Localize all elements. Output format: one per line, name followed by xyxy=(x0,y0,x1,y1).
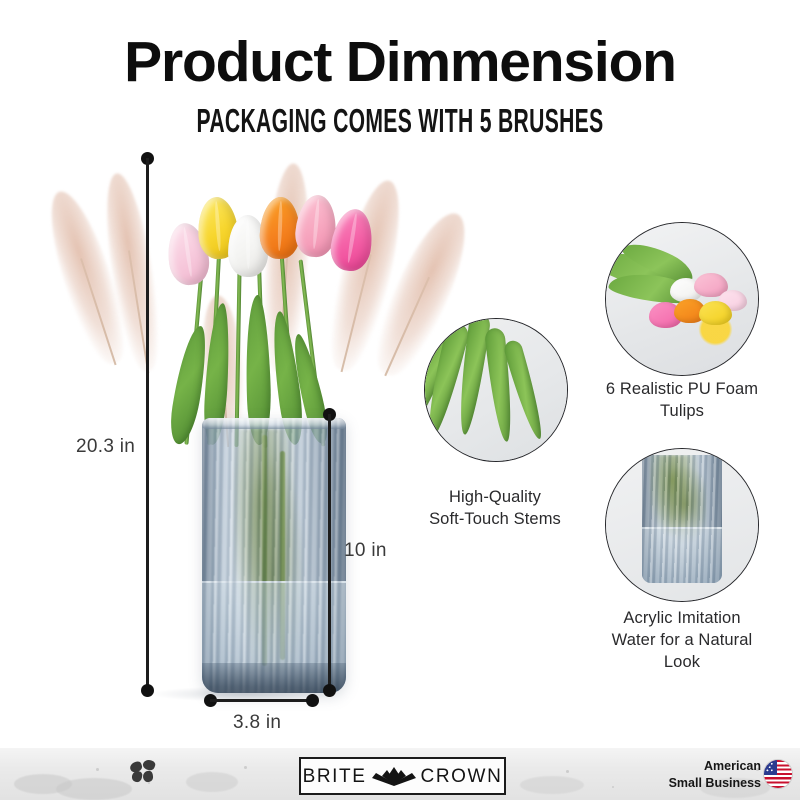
texture-splatter xyxy=(520,776,584,794)
butterfly-icon xyxy=(130,760,156,784)
us-flag-icon xyxy=(764,760,792,788)
infographic-canvas: Product Dimmension PACKAGING COMES WITH … xyxy=(0,0,800,800)
height-dim-dot-bottom xyxy=(141,684,154,697)
american-small-business-badge: American Small Business xyxy=(663,757,795,793)
callout-stems-image xyxy=(424,318,568,462)
crown-icon xyxy=(370,765,418,787)
texture-fleck xyxy=(612,786,614,788)
product-photo xyxy=(150,175,420,695)
height-dim-line xyxy=(146,158,149,690)
brand-logo: BRITE CROWN xyxy=(299,757,506,795)
callout-tulips-image xyxy=(605,222,759,376)
glass-vase xyxy=(202,418,346,693)
vase-height-dim-line xyxy=(328,414,331,690)
width-dim-line xyxy=(210,699,310,702)
vase-height-dim-label: 10 in xyxy=(344,540,387,562)
texture-splatter xyxy=(186,772,238,792)
callout-tulips-caption: 6 Realistic PU Foam Tulips xyxy=(576,379,788,423)
texture-fleck xyxy=(244,766,247,769)
width-dim-dot-right xyxy=(306,694,319,707)
photo-vase-texture xyxy=(642,455,721,583)
callout-water-image xyxy=(605,448,759,602)
vase-rim xyxy=(202,418,346,429)
photo-vase xyxy=(642,455,721,583)
badge-text: American Small Business xyxy=(663,758,761,791)
height-dim-label: 20.3 in xyxy=(76,436,135,458)
callout-water-caption: Acrylic Imitation Water for a Natural Lo… xyxy=(576,608,788,673)
texture-splatter xyxy=(56,778,132,800)
page-title: Product Dimmension xyxy=(0,34,800,91)
vase-height-dim-dot-bottom xyxy=(323,684,336,697)
callout-stems-caption: High-Quality Soft-Touch Stems xyxy=(398,487,592,531)
width-dim-label: 3.8 in xyxy=(233,712,281,734)
texture-fleck xyxy=(96,768,99,771)
vase-texture xyxy=(202,418,346,693)
page-subtitle: PACKAGING COMES WITH 5 BRUSHES xyxy=(144,104,656,137)
brand-name-left: BRITE xyxy=(303,767,367,786)
photo-tulip-bud xyxy=(699,301,732,325)
brand-name-right: CROWN xyxy=(421,767,503,786)
texture-fleck xyxy=(566,770,569,773)
flag-canton xyxy=(764,760,777,775)
